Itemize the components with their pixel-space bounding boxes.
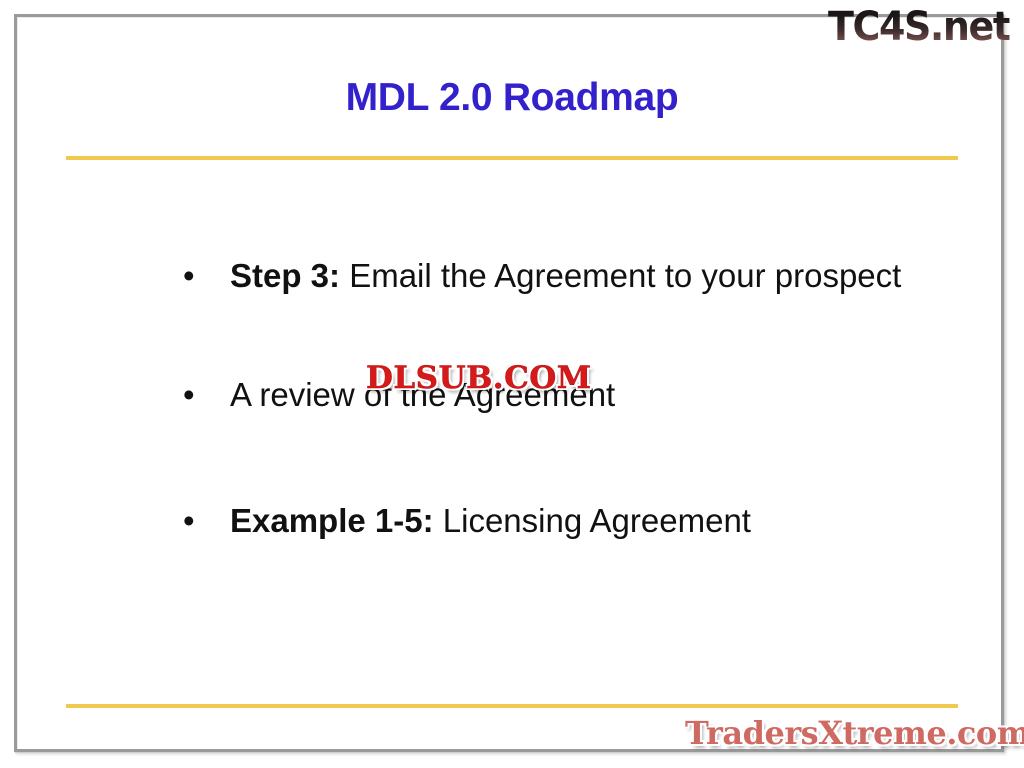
list-item: • Example 1-5: Licensing Agreement: [175, 497, 935, 544]
list-item: • Step 3: Email the Agreement to your pr…: [175, 252, 935, 299]
slide-canvas: MDL 2.0 Roadmap • Step 3: Email the Agre…: [0, 0, 1024, 768]
divider-rule-bottom: [66, 704, 958, 708]
watermark-tradersxtreme: TradersXtreme.com: [685, 714, 1024, 752]
list-item-text: Step 3: Email the Agreement to your pros…: [230, 252, 935, 299]
list-item-lead: Example 1-5:: [230, 502, 434, 539]
divider-rule-top: [66, 156, 958, 160]
list-item-rest: Email the Agreement to your prospect: [340, 257, 901, 294]
bullet-marker-icon: •: [183, 497, 195, 544]
list-item-rest: Licensing Agreement: [434, 502, 751, 539]
slide-title: MDL 2.0 Roadmap: [66, 76, 958, 120]
bullet-marker-icon: •: [183, 371, 195, 418]
watermark-tc4s: TC4S.net: [828, 4, 1010, 50]
watermark-dlsub: DLSUB.COM: [366, 360, 592, 396]
list-item-lead: Step 3:: [230, 257, 340, 294]
bullet-marker-icon: •: [183, 252, 195, 299]
list-item-text: Example 1-5: Licensing Agreement: [230, 497, 935, 544]
bullet-list: • Step 3: Email the Agreement to your pr…: [175, 252, 935, 544]
